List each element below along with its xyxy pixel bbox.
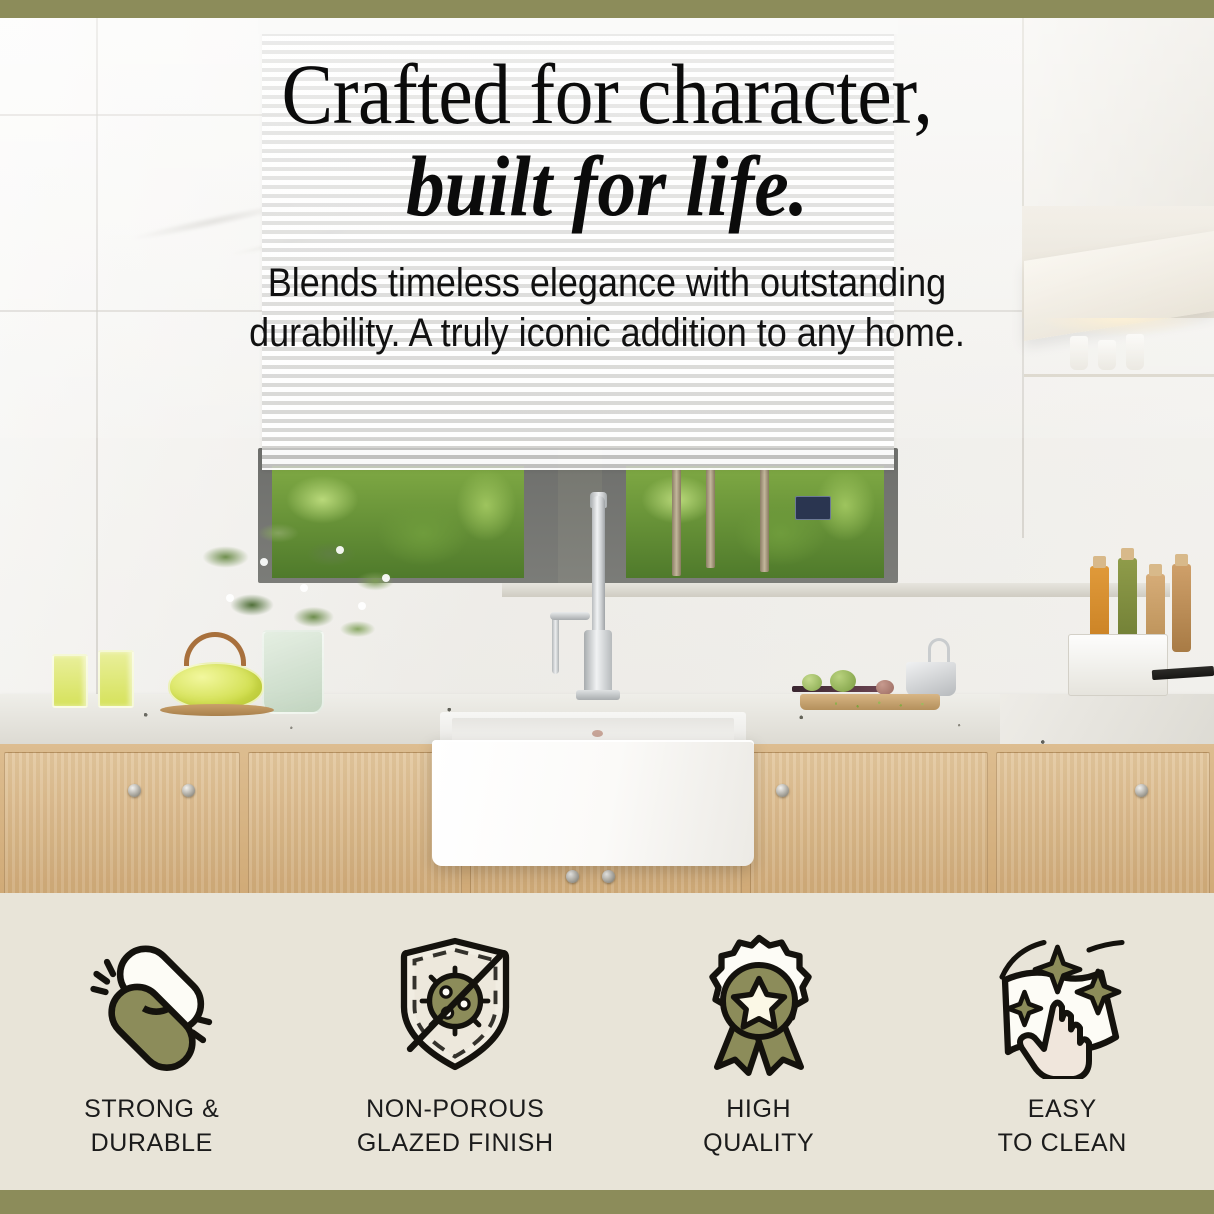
chopped-herbs	[824, 700, 944, 709]
cabinet-knob	[128, 784, 141, 797]
bottle-cork	[1175, 554, 1188, 566]
glass-vase	[262, 630, 324, 714]
vegetable	[802, 674, 822, 691]
white-storage-caddy	[1068, 634, 1168, 696]
white-blossom	[260, 558, 268, 566]
award-rosette-star-icon	[684, 929, 834, 1079]
tree-trunk	[760, 468, 769, 572]
bottle-cork	[1093, 556, 1106, 568]
chain-link-icon	[77, 929, 227, 1079]
hand-wiping-cloth-sparkle-icon	[987, 929, 1137, 1079]
shelf-edge	[1024, 374, 1214, 377]
bottom-olive-rule	[0, 1190, 1214, 1214]
cabinet-door	[248, 752, 462, 893]
bottle-cork	[1121, 548, 1134, 560]
cabinet-knob	[776, 784, 789, 797]
drinking-glass	[52, 654, 88, 708]
feature-high-quality: HIGHQUALITY	[607, 893, 911, 1190]
cabinet-knob	[1135, 784, 1148, 797]
faucet-handle	[550, 612, 590, 620]
metal-pot	[906, 662, 956, 696]
white-blossom	[300, 584, 308, 592]
white-blossom	[226, 594, 234, 602]
top-olive-rule	[0, 0, 1214, 18]
cabinet-knob	[602, 870, 615, 883]
wooden-tray	[160, 704, 274, 716]
feature-strong-durable: STRONG &DURABLE	[0, 893, 304, 1190]
product-lifestyle-banner: Crafted for character, built for life. B…	[0, 0, 1214, 1214]
vegetable	[876, 680, 894, 695]
headline-line-2: built for life.	[61, 142, 1154, 231]
hero-copy-block: Crafted for character, built for life. B…	[0, 52, 1214, 358]
blind-headrail	[258, 18, 898, 34]
feature-easy-to-clean: EASYTO CLEAN	[911, 893, 1214, 1190]
feature-label: EASYTO CLEAN	[998, 1093, 1127, 1160]
cabinet-door	[4, 752, 240, 893]
vegetable	[830, 670, 856, 692]
farmhouse-apron-sink	[432, 740, 754, 866]
cabinet-door	[996, 752, 1210, 893]
oil-bottle	[1172, 564, 1191, 652]
outdoor-foliage-view	[626, 466, 884, 578]
cabinet-knob	[182, 784, 195, 797]
outdoor-sign	[795, 496, 831, 520]
cabinet-door	[750, 752, 988, 893]
faucet-body	[584, 630, 612, 694]
headline-line-1: Crafted for character,	[61, 52, 1154, 136]
subhead-line-1: Blends timeless elegance with outstandin…	[61, 258, 1154, 308]
feature-label: STRONG &DURABLE	[84, 1093, 219, 1160]
shield-germ-blocked-icon	[380, 929, 530, 1079]
faucet-base	[576, 690, 620, 700]
white-blossom	[382, 574, 390, 582]
bottle-cork	[1149, 564, 1162, 576]
faucet-handle-stem	[552, 612, 559, 674]
feature-label: HIGHQUALITY	[703, 1093, 814, 1160]
white-blossom	[358, 602, 366, 610]
feature-label: NON-POROUSGLAZED FINISH	[357, 1093, 554, 1160]
drinking-glass	[98, 650, 134, 708]
feature-non-porous: NON-POROUSGLAZED FINISH	[304, 893, 608, 1190]
tree-trunk	[672, 468, 681, 576]
glass-teapot	[168, 662, 264, 710]
subhead-line-2: durability. A truly iconic addition to a…	[61, 308, 1154, 358]
pot-handle	[928, 638, 950, 664]
white-blossom	[336, 546, 344, 554]
feature-bar: STRONG &DURABLE	[0, 893, 1214, 1190]
tree-trunk	[706, 468, 715, 568]
sink-drain	[592, 730, 603, 737]
cabinet-knob	[566, 870, 579, 883]
